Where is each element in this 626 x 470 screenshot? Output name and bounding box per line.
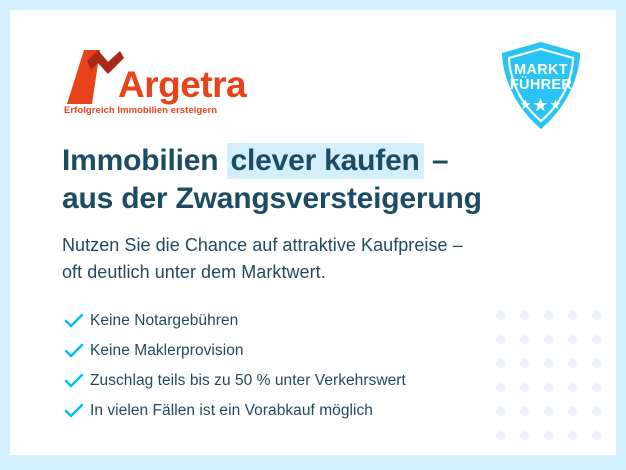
check-icon xyxy=(64,343,90,359)
grid-dot xyxy=(520,311,529,320)
promo-banner: Argetra Erfolgreich Immobilien ersteiger… xyxy=(0,0,626,470)
badge-line-2: FÜHRER xyxy=(498,77,584,93)
grid-dot xyxy=(568,431,577,440)
grid-dot xyxy=(520,431,529,440)
page-title: Immobilien clever kaufen – aus der Zwang… xyxy=(62,142,482,219)
list-item-label: Keine Notargebühren xyxy=(90,312,238,330)
grid-dot xyxy=(496,455,505,456)
list-item-label: Keine Maklerprovision xyxy=(90,342,244,360)
grid-dot xyxy=(496,335,505,344)
grid-dot xyxy=(592,359,601,368)
grid-dot xyxy=(592,407,601,416)
check-icon xyxy=(64,313,90,329)
headline-line-2: aus der Zwangsversteigerung xyxy=(62,180,482,218)
banner-canvas: Argetra Erfolgreich Immobilien ersteiger… xyxy=(10,10,616,455)
headline-prefix: Immobilien xyxy=(62,144,227,177)
grid-dot xyxy=(496,311,505,320)
grid-dot xyxy=(568,359,577,368)
logo-a-mark-icon xyxy=(62,48,126,104)
grid-dot xyxy=(544,407,553,416)
grid-dot xyxy=(568,335,577,344)
check-icon xyxy=(64,403,90,419)
list-item: Keine Maklerprovision xyxy=(64,336,406,366)
grid-dot xyxy=(520,383,529,392)
badge-stars-icon: ★★★ xyxy=(498,96,584,114)
list-item: Keine Notargebühren xyxy=(64,306,406,336)
grid-dot xyxy=(544,455,553,456)
grid-dot xyxy=(592,335,601,344)
grid-dot xyxy=(544,383,553,392)
logo-wordmark: Argetra xyxy=(118,66,246,103)
subtitle: Nutzen Sie die Chance auf attraktive Kau… xyxy=(62,232,463,286)
grid-dot xyxy=(544,359,553,368)
grid-dot xyxy=(520,359,529,368)
grid-dot xyxy=(496,359,505,368)
grid-dot xyxy=(520,407,529,416)
market-leader-badge: MARKT FÜHRER ★★★ xyxy=(498,40,584,132)
grid-dot xyxy=(496,383,505,392)
headline-suffix: – xyxy=(424,144,449,177)
list-item-label: Zuschlag teils bis zu 50 % unter Verkehr… xyxy=(90,372,406,390)
dot-grid-decoration xyxy=(488,303,608,455)
badge-line-1: MARKT xyxy=(498,62,584,78)
grid-dot xyxy=(592,455,601,456)
check-icon xyxy=(64,373,90,389)
grid-dot xyxy=(544,335,553,344)
headline-highlight: clever kaufen xyxy=(227,143,424,179)
grid-dot xyxy=(520,335,529,344)
grid-dot xyxy=(592,431,601,440)
argetra-logo[interactable]: Argetra Erfolgreich Immobilien ersteiger… xyxy=(62,48,262,120)
subtitle-line-1: Nutzen Sie die Chance auf attraktive Kau… xyxy=(62,232,463,259)
logo-tagline: Erfolgreich Immobilien ersteigern xyxy=(64,105,217,116)
grid-dot xyxy=(544,431,553,440)
grid-dot xyxy=(568,383,577,392)
grid-dot xyxy=(568,311,577,320)
headline-line-1: Immobilien clever kaufen – xyxy=(62,142,482,180)
grid-dot xyxy=(592,311,601,320)
grid-dot xyxy=(496,431,505,440)
benefits-list: Keine Notargebühren Keine Maklerprovisio… xyxy=(64,306,406,426)
grid-dot xyxy=(544,311,553,320)
list-item: In vielen Fällen ist ein Vorabkauf mögli… xyxy=(64,396,406,426)
list-item-label: In vielen Fällen ist ein Vorabkauf mögli… xyxy=(90,402,373,420)
grid-dot xyxy=(592,383,601,392)
grid-dot xyxy=(568,407,577,416)
grid-dot xyxy=(520,455,529,456)
grid-dot xyxy=(496,407,505,416)
subtitle-line-2: oft deutlich unter dem Marktwert. xyxy=(62,259,463,286)
list-item: Zuschlag teils bis zu 50 % unter Verkehr… xyxy=(64,366,406,396)
grid-dot xyxy=(568,455,577,456)
